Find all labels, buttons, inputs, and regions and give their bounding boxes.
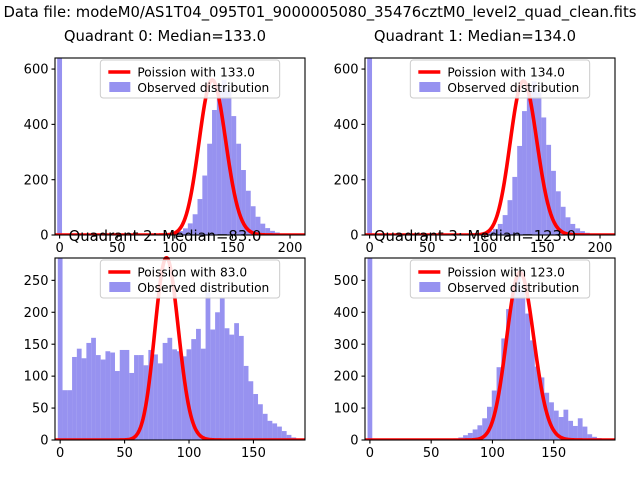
legend: Poission with 123.0Observed distribution (410, 260, 589, 298)
y-tick-label: 400 (334, 306, 359, 321)
figure-suptitle: Data file: modeM0/AS1T04_095T01_90000050… (4, 4, 637, 21)
legend-label-poisson: Poission with 133.0 (137, 66, 255, 80)
subplot-quadrant-2: Quadrant 2: Median=83.005010015005010015… (0, 228, 330, 440)
legend-label-observed: Observed distribution (447, 281, 579, 295)
plot-area-quadrant-3: 0501001500100200300400500Poission with 1… (310, 228, 640, 440)
x-tick-label: 150 (241, 446, 266, 461)
subplot-title-quadrant-3: Quadrant 3: Median=123.0 (310, 228, 640, 245)
plot-area-quadrant-2: 050100150050100150200250Poission with 83… (0, 228, 330, 440)
legend-label-poisson: Poission with 123.0 (447, 266, 565, 280)
y-tick-label: 50 (32, 402, 49, 417)
y-tick-label: 600 (334, 63, 359, 78)
legend-patch-sample (419, 82, 440, 92)
y-tick-label: 600 (24, 63, 49, 78)
poisson-curve (55, 80, 305, 235)
x-axis-ticks: 050100150 (366, 440, 566, 461)
y-axis-ticks: 0200400600 (24, 63, 55, 244)
legend-patch-sample (419, 282, 440, 292)
y-axis-ticks: 0200400600 (334, 63, 365, 244)
y-tick-label: 400 (24, 118, 49, 133)
x-tick-label: 0 (366, 446, 374, 461)
y-tick-label: 100 (334, 402, 359, 417)
y-tick-label: 0 (40, 434, 48, 449)
poisson-curve (365, 81, 615, 235)
x-tick-label: 100 (480, 446, 505, 461)
plot-area-quadrant-0: 0501001502000200400600Poission with 133.… (0, 28, 330, 234)
legend-patch-sample (109, 282, 130, 292)
y-tick-label: 200 (24, 173, 49, 188)
x-tick-label: 150 (541, 446, 566, 461)
legend-label-observed: Observed distribution (447, 81, 579, 95)
x-axis-ticks: 050100150 (56, 440, 266, 461)
legend-label-observed: Observed distribution (137, 281, 269, 295)
y-tick-label: 250 (24, 274, 49, 289)
subplot-quadrant-3: Quadrant 3: Median=123.00501001500100200… (310, 228, 640, 440)
y-tick-label: 0 (350, 434, 358, 449)
legend-label-observed: Observed distribution (137, 81, 269, 95)
subplot-title-quadrant-1: Quadrant 1: Median=134.0 (310, 28, 640, 45)
y-axis-ticks: 050100150200250 (24, 274, 55, 449)
legend: Poission with 134.0Observed distribution (410, 60, 589, 98)
subplot-title-quadrant-2: Quadrant 2: Median=83.0 (0, 228, 330, 245)
y-tick-label: 500 (334, 274, 359, 289)
y-tick-label: 400 (334, 118, 359, 133)
y-tick-label: 200 (24, 306, 49, 321)
y-axis-ticks: 0100200300400500 (334, 274, 365, 449)
y-tick-label: 300 (334, 338, 359, 353)
legend: Poission with 133.0Observed distribution (100, 60, 279, 98)
subplot-title-quadrant-0: Quadrant 0: Median=133.0 (0, 28, 330, 45)
x-tick-label: 50 (423, 446, 440, 461)
figure-canvas: Data file: modeM0/AS1T04_095T01_90000050… (0, 0, 640, 480)
y-tick-label: 100 (24, 370, 49, 385)
x-tick-label: 100 (177, 446, 202, 461)
subplot-quadrant-1: Quadrant 1: Median=134.00501001502000200… (310, 28, 640, 234)
y-tick-label: 200 (334, 370, 359, 385)
legend-patch-sample (109, 82, 130, 92)
y-tick-label: 150 (24, 338, 49, 353)
legend-label-poisson: Poission with 83.0 (137, 266, 247, 280)
plot-area-quadrant-1: 0501001502000200400600Poission with 134.… (310, 28, 640, 234)
legend: Poission with 83.0Observed distribution (100, 260, 279, 298)
legend-label-poisson: Poission with 134.0 (447, 66, 565, 80)
y-tick-label: 200 (334, 173, 359, 188)
x-tick-label: 50 (116, 446, 133, 461)
subplot-quadrant-0: Quadrant 0: Median=133.00501001502000200… (0, 28, 330, 234)
x-tick-label: 0 (56, 446, 64, 461)
